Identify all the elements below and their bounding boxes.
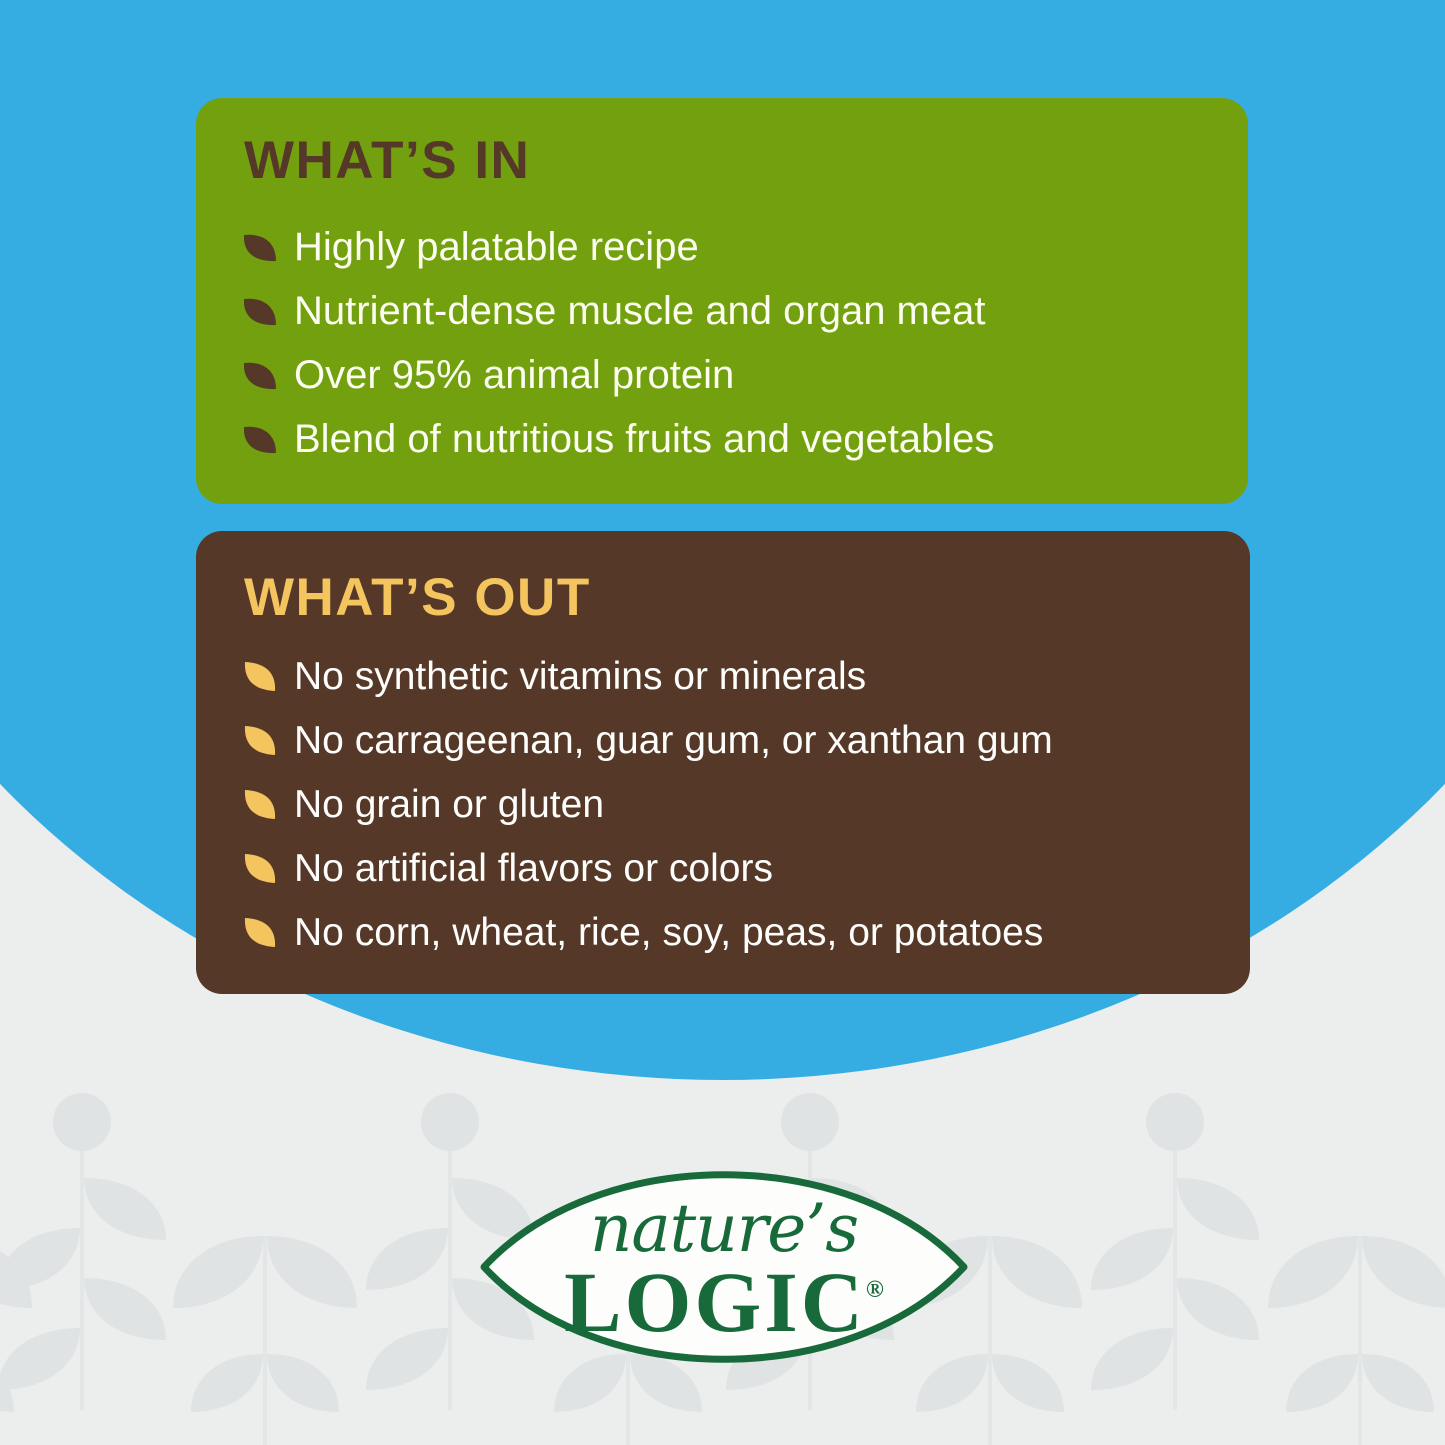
list-item: Blend of nutritious fruits and vegetable… bbox=[242, 407, 994, 471]
list-item: No grain or gluten bbox=[242, 772, 1053, 836]
list-item: No artificial flavors or colors bbox=[242, 836, 1053, 900]
promo-graphic: WHAT’S IN Highly palatable recipe Nutrie… bbox=[0, 0, 1445, 1445]
list-item-label: No synthetic vitamins or minerals bbox=[294, 657, 866, 696]
whats-out-heading: WHAT’S OUT bbox=[244, 567, 591, 628]
registered-mark: ® bbox=[866, 1277, 884, 1303]
list-item: No carrageenan, guar gum, or xanthan gum bbox=[242, 708, 1053, 772]
list-item: No corn, wheat, rice, soy, peas, or pota… bbox=[242, 900, 1053, 964]
leaf-icon bbox=[242, 722, 278, 758]
list-item-label: No carrageenan, guar gum, or xanthan gum bbox=[294, 721, 1053, 760]
leaf-icon bbox=[242, 658, 278, 694]
list-item-label: No grain or gluten bbox=[294, 785, 604, 824]
list-item: Over 95% animal protein bbox=[242, 343, 994, 407]
list-item: No synthetic vitamins or minerals bbox=[242, 644, 1053, 708]
logo-wordmark-text: LOGIC bbox=[564, 1254, 866, 1350]
list-item-label: Highly palatable recipe bbox=[294, 227, 699, 267]
list-item-label: No artificial flavors or colors bbox=[294, 849, 773, 888]
leaf-icon bbox=[242, 229, 278, 265]
list-item-label: Nutrient-dense muscle and organ meat bbox=[294, 291, 985, 331]
leaf-icon bbox=[242, 421, 278, 457]
natures-logic-logo: nature’s LOGIC® bbox=[478, 1138, 970, 1396]
list-item-label: No corn, wheat, rice, soy, peas, or pota… bbox=[294, 913, 1043, 952]
leaf-icon bbox=[242, 293, 278, 329]
whats-out-panel: WHAT’S OUT No synthetic vitamins or mine… bbox=[196, 531, 1250, 994]
leaf-icon bbox=[242, 850, 278, 886]
whats-in-list: Highly palatable recipe Nutrient-dense m… bbox=[242, 215, 994, 471]
list-item-label: Over 95% animal protein bbox=[294, 355, 734, 395]
logo-wordmark: LOGIC® bbox=[478, 1252, 970, 1352]
whats-in-heading: WHAT’S IN bbox=[244, 130, 530, 191]
whats-out-list: No synthetic vitamins or minerals No car… bbox=[242, 644, 1053, 964]
list-item: Nutrient-dense muscle and organ meat bbox=[242, 279, 994, 343]
leaf-icon bbox=[242, 786, 278, 822]
leaf-icon bbox=[242, 914, 278, 950]
whats-in-panel: WHAT’S IN Highly palatable recipe Nutrie… bbox=[196, 98, 1248, 504]
leaf-icon bbox=[242, 357, 278, 393]
list-item: Highly palatable recipe bbox=[242, 215, 994, 279]
list-item-label: Blend of nutritious fruits and vegetable… bbox=[294, 419, 994, 459]
